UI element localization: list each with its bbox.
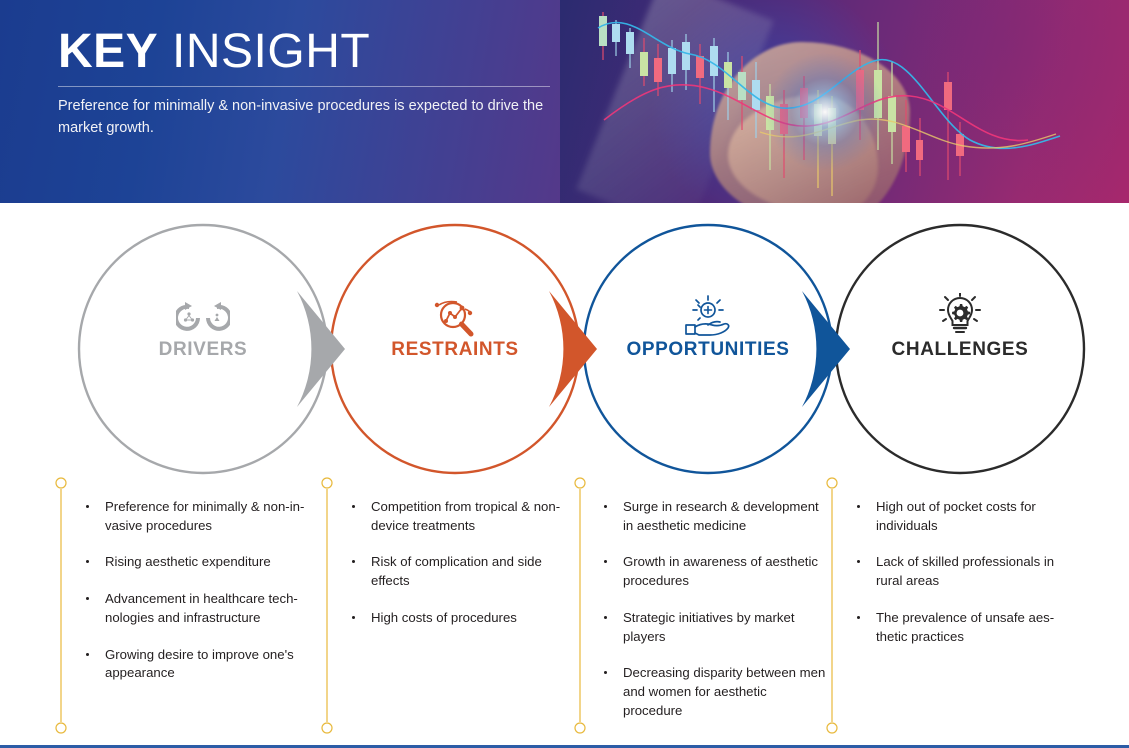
bullet-list-drivers: Preference for minimally & non-in-vasive… <box>82 498 310 683</box>
list-item: Competition from tropical & non-device t… <box>348 498 568 535</box>
header-stock-chart-photo <box>560 0 1129 203</box>
page-title: KEY INSIGHT <box>58 26 370 78</box>
hand-star-idea-icon <box>682 295 734 344</box>
lightbulb-gear-icon <box>936 293 984 344</box>
list-item: High costs of procedures <box>348 609 568 628</box>
list-item: The prevalence of unsafe aes-thetic prac… <box>853 609 1067 646</box>
page-title-bold: KEY <box>58 25 158 78</box>
list-item: Surge in research & development in aesth… <box>600 498 828 535</box>
photo-light-flare <box>765 52 885 172</box>
list-item: Preference for minimally & non-in-vasive… <box>82 498 310 535</box>
title-divider <box>58 86 550 87</box>
cycle-arrows-icon <box>176 301 230 340</box>
node-label-drivers: DRIVERS <box>159 339 248 361</box>
list-item: Decreasing disparity between men and wom… <box>600 664 828 720</box>
bullets-restraints: Competition from tropical & non-device t… <box>348 498 568 646</box>
bullets-opportunities: Surge in research & development in aesth… <box>600 498 828 739</box>
list-item: Growth in awareness of aesthetic procedu… <box>600 553 828 590</box>
list-item: Strategic initiatives by market players <box>600 609 828 646</box>
list-item: Advancement in healthcare tech-nologies … <box>82 590 310 627</box>
magnifier-chart-icon <box>429 299 481 344</box>
bullets-challenges: High out of pocket costs for individuals… <box>853 498 1067 664</box>
bullet-list-restraints: Competition from tropical & non-device t… <box>348 498 568 628</box>
page-title-light: INSIGHT <box>158 25 370 78</box>
node-label-opportunities: OPPORTUNITIES <box>627 339 790 361</box>
process-circles-row: DRIVERS <box>0 203 1129 488</box>
node-label-challenges: CHALLENGES <box>892 339 1029 361</box>
list-item: Lack of skilled professionals in rural a… <box>853 553 1067 590</box>
list-item: Rising aesthetic expenditure <box>82 553 310 572</box>
header-banner: KEY INSIGHT Preference for minimally & n… <box>0 0 1129 203</box>
key-insight-infographic: KEY INSIGHT Preference for minimally & n… <box>0 0 1129 748</box>
bullet-list-opportunities: Surge in research & development in aesth… <box>600 498 828 721</box>
list-item: Risk of complication and side effects <box>348 553 568 590</box>
bullets-drivers: Preference for minimally & non-in-vasive… <box>82 498 310 701</box>
page-subtitle: Preference for minimally & non-invasive … <box>58 95 558 140</box>
list-item: Growing desire to improve one's appearan… <box>82 646 310 683</box>
node-label-restraints: RESTRAINTS <box>391 339 518 361</box>
list-item: High out of pocket costs for individuals <box>853 498 1067 535</box>
bullet-list-challenges: High out of pocket costs for individuals… <box>853 498 1067 646</box>
